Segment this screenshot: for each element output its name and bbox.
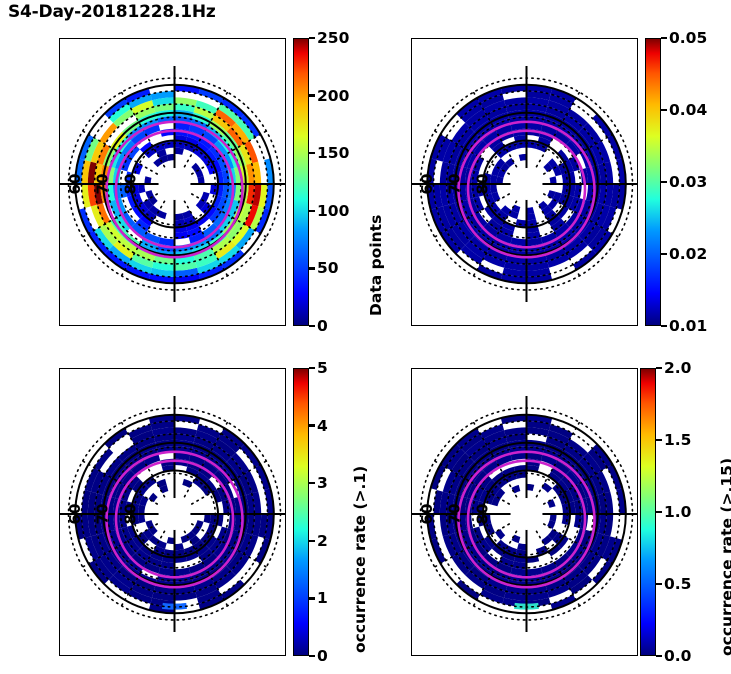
- colorbar-tick: [656, 439, 662, 441]
- panel-data-points: 607080: [59, 38, 286, 326]
- radial-tick-labels: 607080: [418, 174, 492, 195]
- colorbar-label-data-points: Data points: [367, 215, 385, 316]
- radial-tick-label: 60: [418, 504, 436, 525]
- colorbar-tick: [309, 424, 315, 426]
- colorbar-tick: [661, 37, 667, 39]
- polar-pole-hole: [159, 498, 191, 530]
- colorbar-tick-label: 2: [317, 532, 328, 550]
- colorbar-tick-label: 50: [317, 259, 339, 277]
- radial-tick-label: 70: [446, 174, 464, 195]
- colorbar-tick-label: 0.5: [664, 575, 691, 593]
- radial-tick-label: 60: [418, 174, 436, 195]
- polar-plot-occurrence-rate-01: 607080: [60, 369, 285, 655]
- figure-canvas: S4-Day-20181228.1Hz 607080 0501001502002…: [0, 0, 731, 674]
- colorbar-tick: [309, 94, 315, 96]
- radial-tick-labels: 607080: [66, 504, 140, 525]
- panel-mean-s4: 607080: [411, 38, 638, 326]
- radial-tick-label: 70: [446, 504, 464, 525]
- colorbar-tick-label: 3: [317, 474, 328, 492]
- radial-tick-label: 80: [122, 174, 140, 195]
- polar-plot-occurrence-rate-015: 607080: [412, 369, 637, 655]
- colorbar-tick: [309, 267, 315, 269]
- colorbar-occurrence-rate-01: 012345 occurrence rate (>.1): [293, 368, 309, 656]
- colorbar-occurrence-rate-015: 0.00.51.01.52.0 occurrence rate (>.15): [640, 368, 656, 656]
- radial-tick-label: 80: [122, 504, 140, 525]
- radial-tick-labels: 607080: [418, 504, 492, 525]
- colorbar-tick-label: 1.0: [664, 503, 691, 521]
- colorbar-tick-label: 1.5: [664, 431, 691, 449]
- colorbar-tick: [656, 367, 662, 369]
- colorbar-tick: [656, 583, 662, 585]
- radial-tick-labels: 607080: [66, 174, 140, 195]
- colorbar-tick: [309, 37, 315, 39]
- polar-plot-data-points: 607080: [60, 39, 285, 325]
- colorbar-tick: [309, 152, 315, 154]
- polar-svg-mean-s4: 607080: [412, 39, 638, 326]
- colorbar-tick: [661, 181, 667, 183]
- radial-tick-label: 60: [66, 174, 84, 195]
- colorbar-tick: [309, 367, 315, 369]
- polar-svg-occurrence-rate-01: 607080: [60, 369, 286, 656]
- colorbar-tick-label: 1: [317, 589, 328, 607]
- axes-frame-occurrence-rate-01: 607080: [59, 368, 286, 656]
- colorbar-tick: [661, 109, 667, 111]
- colorbar-tick: [309, 540, 315, 542]
- colorbar-tick-label: 0.05: [669, 29, 707, 47]
- radial-tick-label: 70: [94, 174, 112, 195]
- colorbar-tick: [309, 655, 315, 657]
- panel-occurrence-rate-01: 607080: [59, 368, 286, 656]
- colorbar-tick-label: 250: [317, 29, 349, 47]
- colorbar-tick-label: 0.0: [664, 647, 691, 665]
- colorbar-tick: [661, 253, 667, 255]
- colorbar-tick-label: 100: [317, 202, 349, 220]
- radial-tick-label: 60: [66, 504, 84, 525]
- colorbar-gradient-occurrence-rate-01: [293, 368, 309, 656]
- colorbar-tick-label: 0.04: [669, 101, 707, 119]
- radial-tick-label: 80: [474, 174, 492, 195]
- colorbar-tick-label: 4: [317, 417, 328, 435]
- colorbar-tick-label: 0: [317, 647, 328, 665]
- colorbar-tick-label: 2.0: [664, 359, 691, 377]
- polar-pole-hole: [511, 168, 543, 200]
- colorbar-mean-s4: 0.010.020.030.040.05 mean S4: [645, 38, 661, 326]
- colorbar-gradient-data-points: [293, 38, 309, 326]
- polar-pole-hole: [159, 168, 191, 200]
- radial-tick-label: 70: [94, 504, 112, 525]
- colorbar-tick: [656, 511, 662, 513]
- colorbar-tick: [309, 210, 315, 212]
- colorbar-tick-label: 200: [317, 87, 349, 105]
- colorbar-tick-label: 0.02: [669, 245, 707, 263]
- colorbar-data-points: 050100150200250 Data points: [293, 38, 309, 326]
- colorbar-tick: [309, 482, 315, 484]
- colorbar-tick-label: 0.01: [669, 317, 707, 335]
- polar-pole-hole: [511, 498, 543, 530]
- axes-frame-data-points: 607080: [59, 38, 286, 326]
- colorbar-label-occurrence-rate-015: occurrence rate (>.15): [718, 458, 731, 656]
- colorbar-tick: [309, 325, 315, 327]
- page-title: S4-Day-20181228.1Hz: [8, 2, 216, 22]
- colorbar-tick-label: 0: [317, 317, 328, 335]
- axes-frame-occurrence-rate-015: 607080: [411, 368, 638, 656]
- colorbar-tick-label: 5: [317, 359, 328, 377]
- polar-plot-mean-s4: 607080: [412, 39, 637, 325]
- colorbar-gradient-occurrence-rate-015: [640, 368, 656, 656]
- radial-tick-label: 80: [474, 504, 492, 525]
- colorbar-label-occurrence-rate-01: occurrence rate (>.1): [351, 466, 369, 653]
- colorbar-tick: [309, 597, 315, 599]
- colorbar-tick: [661, 325, 667, 327]
- colorbar-tick-label: 0.03: [669, 173, 707, 191]
- colorbar-gradient-mean-s4: [645, 38, 661, 326]
- panel-occurrence-rate-015: 607080: [411, 368, 638, 656]
- colorbar-tick: [656, 655, 662, 657]
- polar-svg-occurrence-rate-015: 607080: [412, 369, 638, 656]
- polar-svg-data-points: 607080: [60, 39, 286, 326]
- colorbar-tick-label: 150: [317, 144, 349, 162]
- axes-frame-mean-s4: 607080: [411, 38, 638, 326]
